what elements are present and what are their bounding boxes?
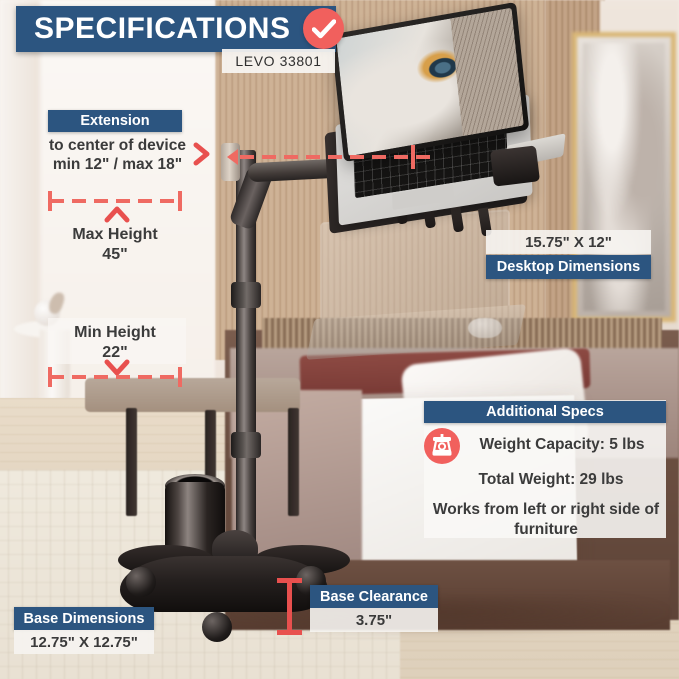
min-height-endcap-left (48, 367, 52, 387)
bench-leg (126, 408, 137, 516)
base-clearance-measure-bar (287, 578, 292, 634)
specifications-header-bar: SPECIFICATIONS (16, 6, 336, 52)
base-clearance-value: 3.75" (310, 608, 438, 632)
max-height-label: Max Height (30, 225, 200, 245)
bench-leg (288, 408, 299, 516)
base-clearance-label: Base Clearance (310, 585, 438, 608)
model-number-plate: LEVO 33801 (222, 49, 335, 73)
spec-total-weight: Total Weight: 29 lbs (440, 470, 662, 490)
tray-clamp (490, 145, 540, 186)
caster-wheel (202, 612, 232, 642)
caster-wheel (126, 567, 156, 597)
additional-specs-heading: Additional Specs (424, 401, 666, 423)
extension-arrow-left (227, 149, 238, 165)
min-height-measure-line (50, 375, 182, 379)
max-height-endcap-right (178, 191, 182, 211)
base-dimensions-value: 12.75" X 12.75" (14, 630, 154, 654)
min-height-endcap-right (178, 367, 182, 387)
base-clearance-endcap-bottom (277, 630, 302, 635)
max-height-text: Max Height 45" (30, 225, 200, 265)
screen-wallpaper-texture (450, 8, 523, 136)
check-circle-icon (303, 8, 344, 49)
extension-label: Extension (48, 110, 182, 132)
spec-placement: Works from left or right side of furnitu… (432, 500, 660, 540)
pole-height-collar-lower (231, 432, 261, 458)
max-height-value: 45" (30, 245, 200, 265)
max-height-measure-line (50, 199, 182, 203)
max-height-endcap-left (48, 191, 52, 211)
bench-seat (85, 378, 300, 412)
extension-measure-endcap (411, 145, 415, 169)
extension-detail-line1: to center of device (30, 136, 205, 155)
base-clearance-endcap-top (277, 578, 302, 583)
extension-measure-line (240, 155, 430, 159)
min-height-label: Min Height (30, 323, 200, 343)
extension-detail: to center of device min 12" / max 18" (30, 136, 205, 175)
spec-weight-capacity: Weight Capacity: 5 lbs (462, 435, 662, 455)
min-height-text: Min Height 22" (30, 323, 200, 363)
weight-scale-icon (424, 428, 460, 464)
model-number: LEVO 33801 (235, 53, 321, 69)
desktop-dimensions-label: Desktop Dimensions (486, 255, 651, 279)
desktop-dimensions-value: 15.75" X 12" (486, 230, 651, 254)
chevron-right-icon (192, 142, 212, 171)
pole-height-collar-upper (231, 282, 261, 308)
page-title: SPECIFICATIONS (16, 14, 290, 44)
base-dimensions-label: Base Dimensions (14, 607, 154, 630)
extension-detail-line2: min 12" / max 18" (30, 155, 205, 174)
infographic-canvas: SPECIFICATIONS LEVO 33801 Extension to c… (0, 0, 679, 679)
mouse (468, 318, 502, 338)
